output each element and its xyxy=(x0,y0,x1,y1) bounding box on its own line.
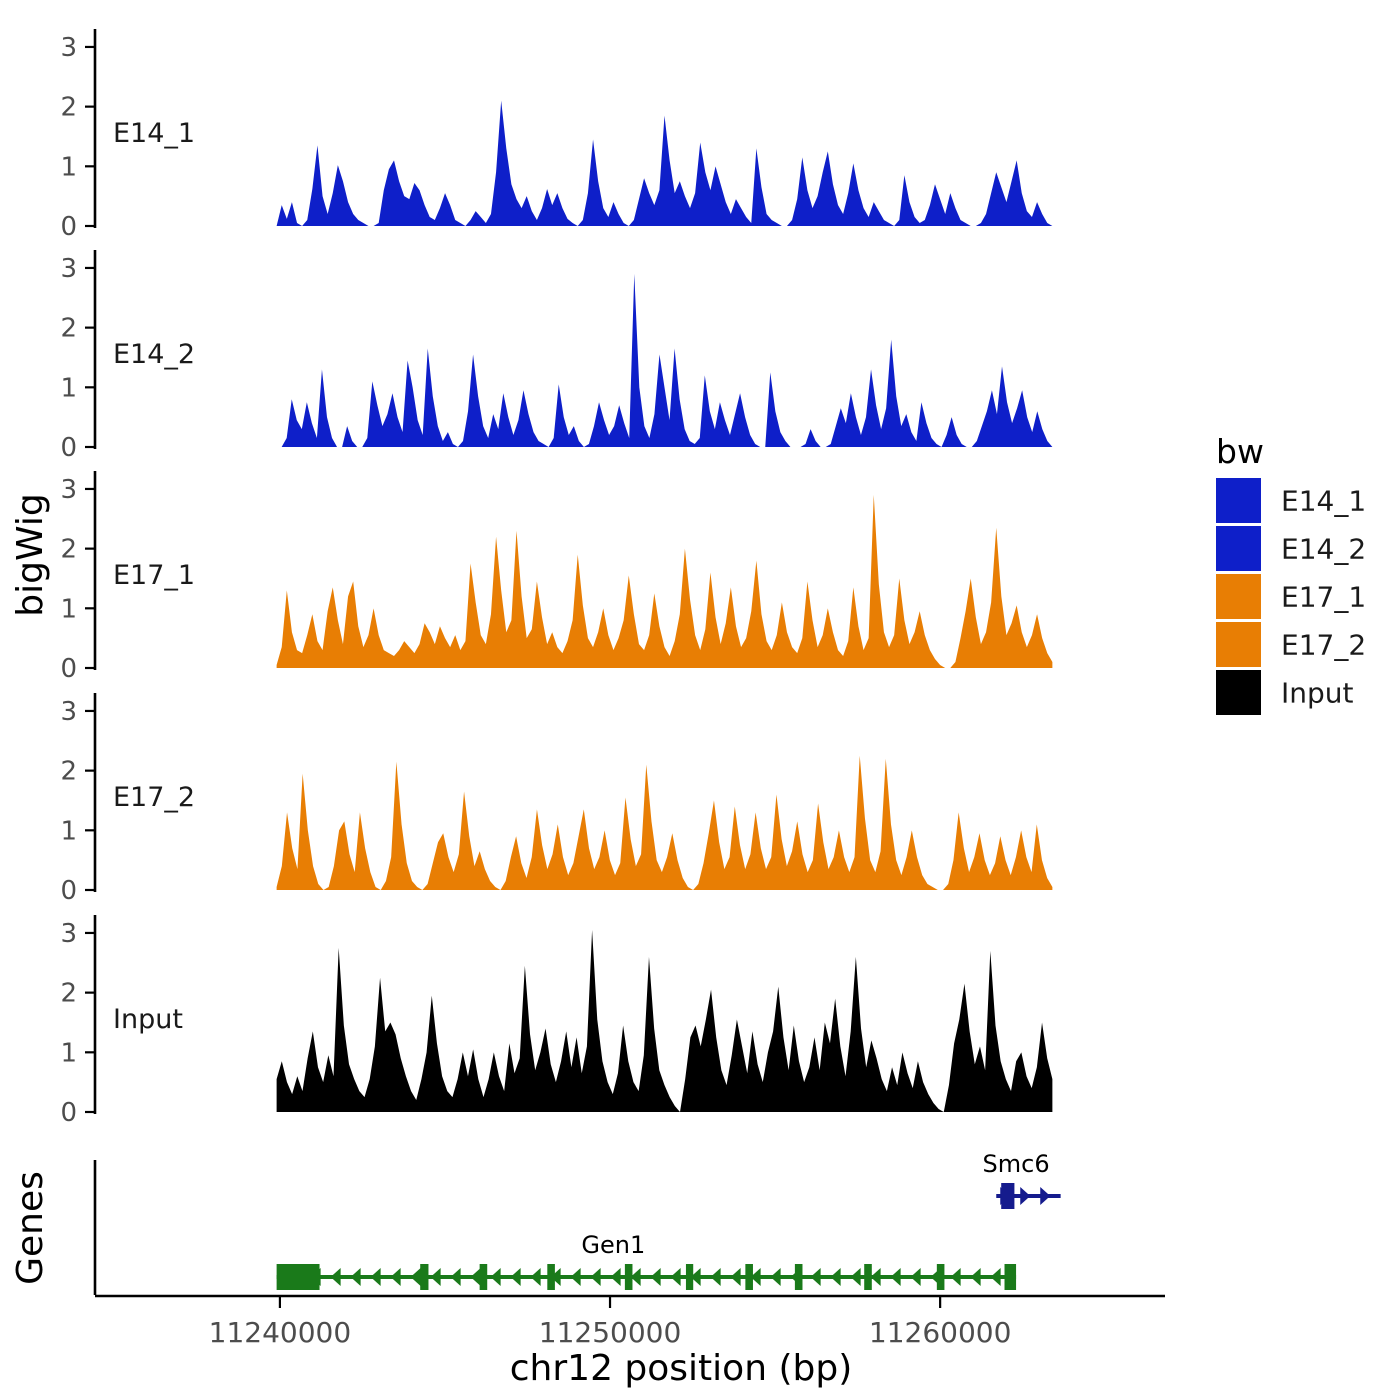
track-label-E17_1: E17_1 xyxy=(113,560,195,591)
gene-exon-Smc6 xyxy=(1001,1183,1014,1209)
y-tick-label-E17_1-1: 1 xyxy=(60,594,77,624)
coverage-track-E14_2 xyxy=(277,274,1053,447)
y-tick-label-E14_1-2: 2 xyxy=(60,93,77,123)
gene-strand-arrow-icon xyxy=(371,1268,381,1286)
coverage-track-Input xyxy=(277,930,1053,1112)
y-tick-label-Input-0: 0 xyxy=(60,1098,77,1128)
y-axis-title: bigWig xyxy=(10,493,51,616)
gene-strand-arrow-icon xyxy=(871,1268,881,1286)
y-tick-label-E17_1-2: 2 xyxy=(60,535,77,565)
legend-label-Input: Input xyxy=(1281,676,1354,709)
y-tick-label-E14_2-0: 0 xyxy=(60,433,77,463)
legend-swatch-Input[interactable] xyxy=(1216,670,1261,715)
gene-strand-arrow-icon xyxy=(891,1268,901,1286)
gene-strand-arrow-icon xyxy=(431,1268,441,1286)
y-tick-label-E14_2-1: 1 xyxy=(60,373,77,403)
legend-label-E17_1: E17_1 xyxy=(1281,580,1366,613)
gene-strand-arrow-icon xyxy=(471,1268,481,1286)
gene-strand-arrow-icon xyxy=(651,1268,661,1286)
gene-strand-arrow-icon xyxy=(951,1268,961,1286)
legend-swatch-E14_1[interactable] xyxy=(1216,478,1261,523)
y-tick-label-Input-2: 2 xyxy=(60,979,77,1009)
legend-label-E14_1: E14_1 xyxy=(1281,484,1366,517)
track-label-E14_1: E14_1 xyxy=(113,118,195,149)
gene-strand-arrow-icon xyxy=(451,1268,461,1286)
gene-strand-arrow-icon xyxy=(811,1268,821,1286)
y-tick-label-E14_2-3: 3 xyxy=(60,254,77,284)
gene-strand-arrow-icon xyxy=(1040,1187,1050,1205)
y-tick-label-E14_2-2: 2 xyxy=(60,314,77,344)
coverage-track-E14_1 xyxy=(277,101,1053,226)
genome-browser-figure: 0123E14_10123E14_20123E17_10123E17_20123… xyxy=(0,0,1400,1400)
gene-exon-Gen1 xyxy=(420,1264,428,1290)
legend-label-E17_2: E17_2 xyxy=(1281,628,1366,661)
track-label-E14_2: E14_2 xyxy=(113,339,195,370)
gene-name-label-Smc6: Smc6 xyxy=(983,1150,1050,1178)
gene-strand-arrow-icon xyxy=(351,1268,361,1286)
x-tick-label-11250000: 11250000 xyxy=(539,1316,682,1349)
y-tick-label-Input-3: 3 xyxy=(60,919,77,949)
track-label-E17_2: E17_2 xyxy=(113,782,195,813)
gene-Smc6[interactable] xyxy=(996,1183,1060,1209)
gene-strand-arrow-icon xyxy=(331,1268,341,1286)
gene-strand-arrow-icon xyxy=(391,1268,401,1286)
gene-exon-Gen1 xyxy=(937,1264,945,1290)
y-tick-label-Input-1: 1 xyxy=(60,1038,77,1068)
x-axis-title: chr12 position (bp) xyxy=(510,1348,853,1389)
gene-strand-arrow-icon xyxy=(711,1268,721,1286)
figure-root: 0123E14_10123E14_20123E17_10123E17_20123… xyxy=(0,0,1400,1400)
y-tick-label-E17_2-1: 1 xyxy=(60,816,77,846)
gene-exon-Gen1 xyxy=(1005,1264,1017,1290)
gene-strand-arrow-icon xyxy=(511,1268,521,1286)
track-label-Input: Input xyxy=(113,1004,183,1035)
gene-strand-arrow-icon xyxy=(591,1268,601,1286)
coverage-track-E17_2 xyxy=(277,756,1053,890)
gene-exon-Gen1 xyxy=(625,1264,633,1290)
gene-exon-Gen1 xyxy=(686,1264,693,1290)
y-tick-label-E17_2-0: 0 xyxy=(60,876,77,906)
legend-title: bw xyxy=(1216,432,1264,471)
gene-strand-arrow-icon xyxy=(491,1268,501,1286)
gene-strand-arrow-icon xyxy=(411,1268,421,1286)
y-tick-label-E17_1-0: 0 xyxy=(60,654,77,684)
y-tick-label-E17_1-3: 3 xyxy=(60,475,77,505)
gene-exon-Gen1 xyxy=(277,1264,320,1290)
gene-exon-Gen1 xyxy=(795,1264,803,1290)
gene-strand-arrow-icon xyxy=(831,1268,841,1286)
coverage-track-E17_1 xyxy=(277,495,1053,668)
y-tick-label-E17_2-3: 3 xyxy=(60,697,77,727)
gene-strand-arrow-icon xyxy=(991,1268,1001,1286)
x-tick-label-11240000: 11240000 xyxy=(209,1316,352,1349)
gene-strand-arrow-icon xyxy=(611,1268,621,1286)
y-tick-label-E17_2-2: 2 xyxy=(60,757,77,787)
gene-exon-Gen1 xyxy=(547,1264,555,1290)
gene-strand-arrow-icon xyxy=(771,1268,781,1286)
genes-axis-title: Genes xyxy=(10,1171,51,1285)
gene-Gen1[interactable] xyxy=(277,1264,1016,1290)
x-tick-label-11260000: 11260000 xyxy=(869,1316,1012,1349)
gene-strand-arrow-icon xyxy=(731,1268,741,1286)
y-tick-label-E14_1-0: 0 xyxy=(60,212,77,242)
y-tick-label-E14_1-1: 1 xyxy=(60,152,77,182)
gene-strand-arrow-icon xyxy=(971,1268,981,1286)
y-tick-label-E14_1-3: 3 xyxy=(60,33,77,63)
gene-strand-arrow-icon xyxy=(911,1268,921,1286)
gene-strand-arrow-icon xyxy=(671,1268,681,1286)
legend-swatch-E17_1[interactable] xyxy=(1216,574,1261,619)
gene-strand-arrow-icon xyxy=(531,1268,541,1286)
gene-strand-arrow-icon xyxy=(1020,1187,1030,1205)
gene-strand-arrow-icon xyxy=(851,1268,861,1286)
gene-name-label-Gen1: Gen1 xyxy=(581,1231,645,1259)
gene-strand-arrow-icon xyxy=(571,1268,581,1286)
legend-label-E14_2: E14_2 xyxy=(1281,532,1366,565)
gene-exon-Gen1 xyxy=(745,1264,753,1290)
gene-exon-Gen1 xyxy=(480,1264,488,1290)
legend-swatch-E17_2[interactable] xyxy=(1216,622,1261,667)
gene-exon-Gen1 xyxy=(864,1264,872,1290)
legend-swatch-E14_2[interactable] xyxy=(1216,526,1261,571)
